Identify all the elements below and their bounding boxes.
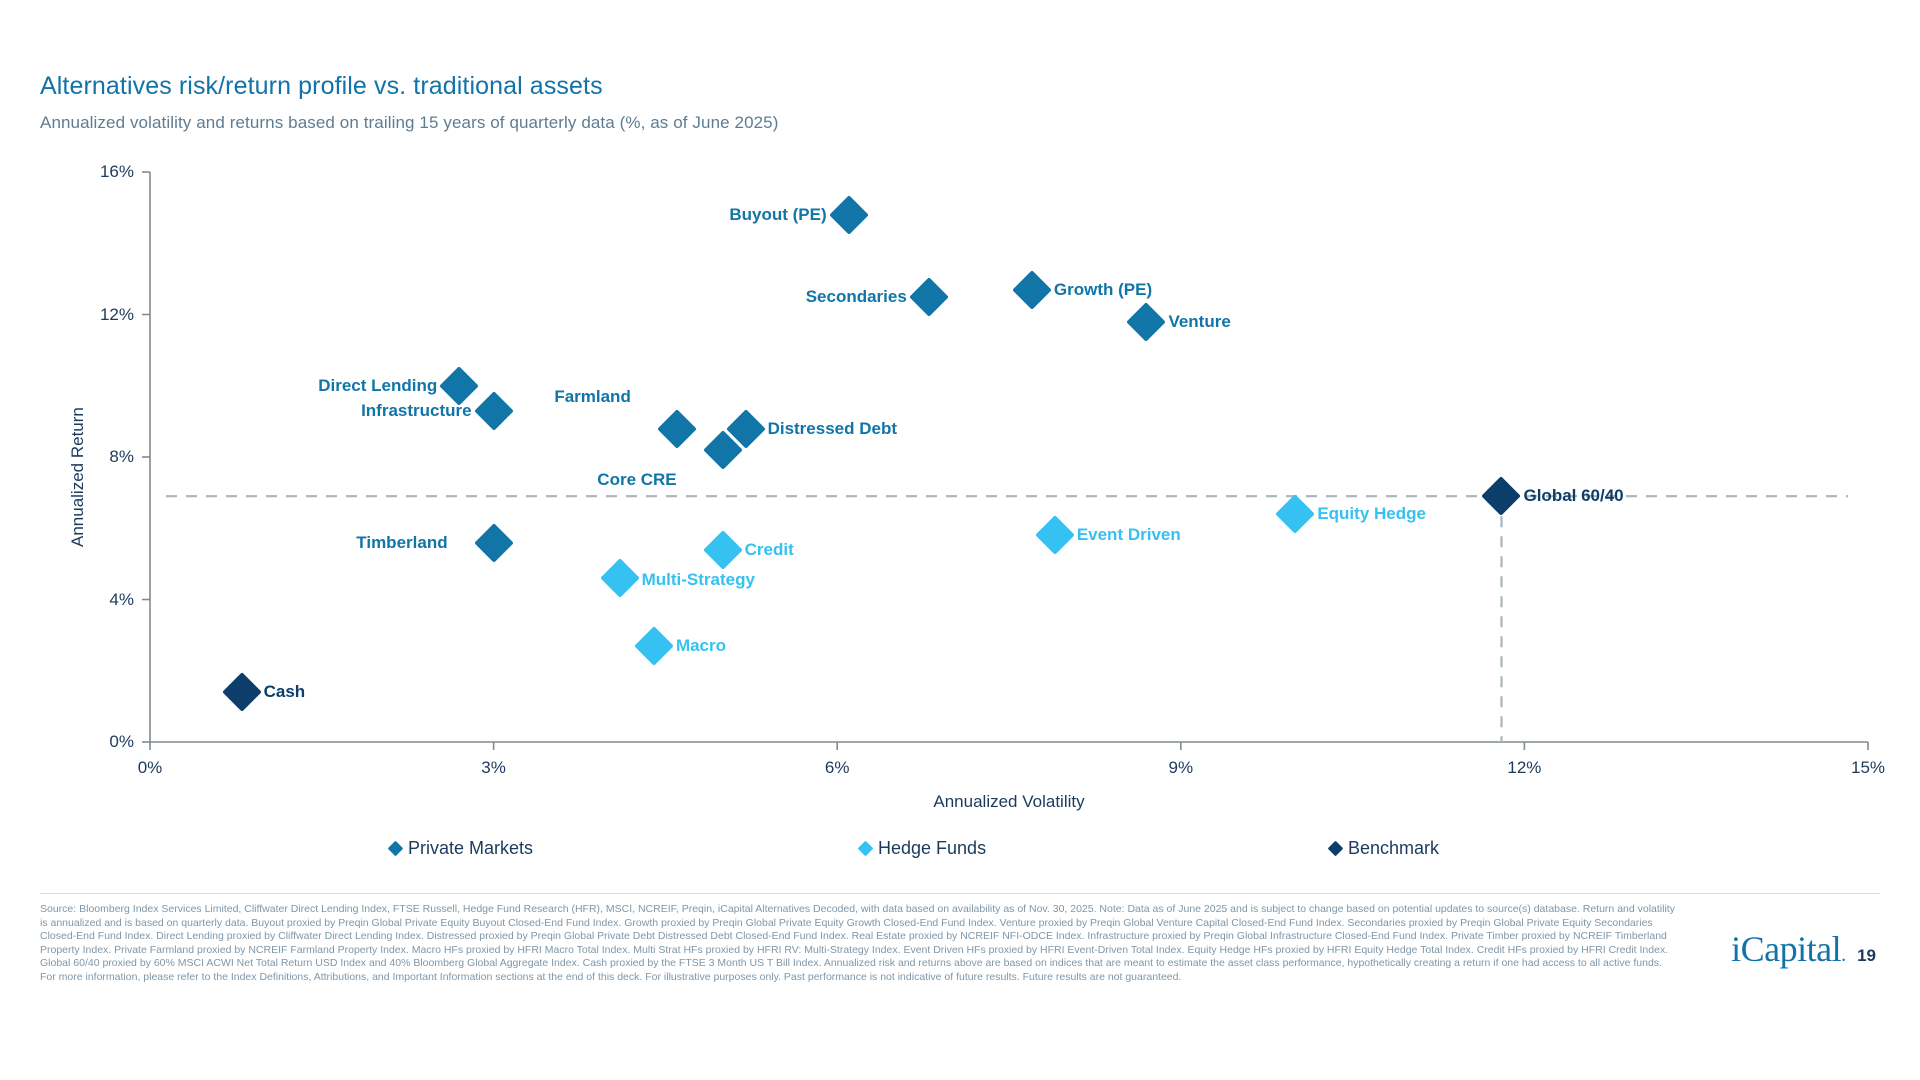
data-point-marker[interactable] (1482, 476, 1522, 516)
data-point-marker[interactable] (1127, 302, 1167, 342)
legend-item-benchmark[interactable]: Benchmark (1330, 838, 1439, 859)
x-tick-label: 12% (1507, 758, 1541, 778)
legend-item-hedge-funds[interactable]: Hedge Funds (860, 838, 986, 859)
data-point-label: Buyout (PE) (729, 205, 826, 225)
page-subtitle: Annualized volatility and returns based … (40, 113, 779, 133)
x-axis-title: Annualized Volatility (809, 792, 1209, 812)
chart-legend: Private MarketsHedge FundsBenchmark (390, 838, 1550, 868)
data-point-label: Venture (1168, 312, 1230, 332)
logo-dot: . (1841, 944, 1846, 967)
data-point-marker[interactable] (439, 366, 479, 406)
legend-label: Benchmark (1348, 838, 1439, 859)
data-point-marker[interactable] (1035, 516, 1075, 556)
data-point-label: Core CRE (597, 470, 676, 490)
data-point-label: Event Driven (1077, 525, 1181, 545)
legend-diamond-icon (858, 841, 874, 857)
legend-item-private-markets[interactable]: Private Markets (390, 838, 533, 859)
data-point-marker[interactable] (1012, 270, 1052, 310)
data-point-label: Equity Hedge (1317, 504, 1426, 524)
data-point-marker[interactable] (829, 195, 869, 235)
data-point-label: Farmland (554, 387, 631, 407)
data-point-marker[interactable] (703, 530, 743, 570)
data-point-marker[interactable] (726, 409, 766, 449)
x-tick-label: 0% (138, 758, 163, 778)
brand-lockup: iCapital . 19 (1731, 928, 1876, 970)
data-point-label: Global 60/40 (1523, 486, 1623, 506)
page-title: Alternatives risk/return profile vs. tra… (40, 72, 603, 101)
data-point-label: Direct Lending (318, 376, 437, 396)
page-number: 19 (1857, 946, 1876, 966)
legend-diamond-icon (1328, 841, 1344, 857)
data-point-marker[interactable] (474, 523, 514, 563)
data-point-label: Distressed Debt (768, 419, 897, 439)
data-point-label: Infrastructure (361, 401, 472, 421)
y-tick-label: 16% (0, 162, 134, 182)
data-point-label: Multi-Strategy (642, 570, 755, 590)
y-axis-title: Annualized Return (68, 407, 88, 547)
y-tick-label: 0% (0, 732, 134, 752)
data-point-label: Cash (264, 682, 306, 702)
data-point-marker[interactable] (634, 626, 674, 666)
data-point-label: Secondaries (806, 287, 907, 307)
data-point-label: Growth (PE) (1054, 280, 1152, 300)
footnote-source-text: Source: Bloomberg Index Services Limited… (40, 903, 1680, 985)
x-tick-label: 3% (481, 758, 506, 778)
y-tick-label: 12% (0, 305, 134, 325)
data-point-marker[interactable] (474, 391, 514, 431)
y-tick-label: 8% (0, 447, 134, 467)
legend-label: Private Markets (408, 838, 533, 859)
icapital-logo: iCapital (1731, 928, 1841, 970)
data-point-label: Credit (745, 540, 794, 560)
data-point-marker[interactable] (703, 430, 743, 470)
data-point-marker[interactable] (1276, 494, 1316, 534)
data-point-marker[interactable] (222, 672, 262, 712)
y-tick-label: 4% (0, 590, 134, 610)
x-tick-label: 6% (825, 758, 850, 778)
legend-label: Hedge Funds (878, 838, 986, 859)
footer-divider (40, 893, 1880, 894)
data-point-marker[interactable] (909, 277, 949, 317)
data-point-marker[interactable] (657, 409, 697, 449)
legend-diamond-icon (388, 841, 404, 857)
x-tick-label: 9% (1169, 758, 1194, 778)
data-point-label: Timberland (356, 533, 447, 553)
data-point-label: Macro (676, 636, 726, 656)
x-tick-label: 15% (1851, 758, 1885, 778)
data-point-marker[interactable] (600, 558, 640, 598)
